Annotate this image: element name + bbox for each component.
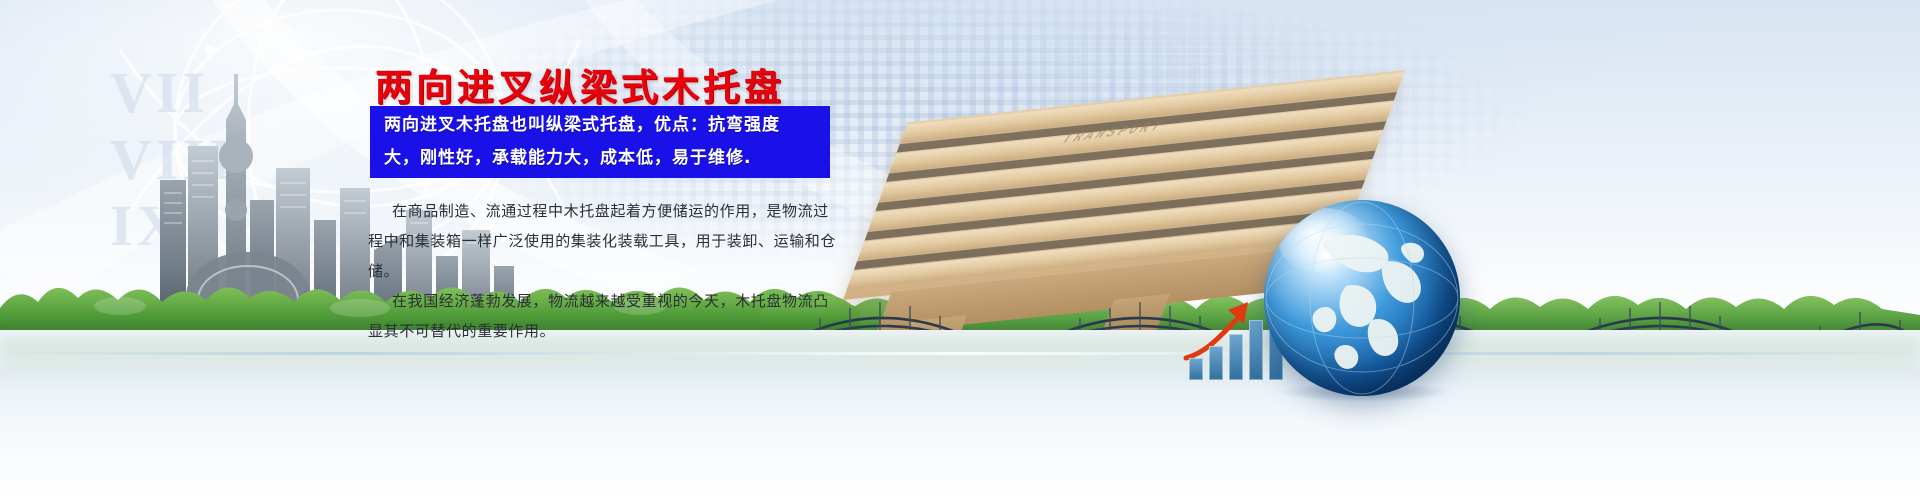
globe-landmass: [1264, 200, 1460, 396]
page-title: 两向进叉纵梁式木托盘: [375, 57, 785, 111]
product-banner: VIIVIIIIX XII: [0, 0, 1920, 500]
body-paragraph-2: 在我国经济蓬勃发展，物流越来越受重视的今天，木托盘物流凸显其不可替代的重要作用。: [368, 286, 838, 346]
body-paragraph-1: 在商品制造、流通过程中木托盘起着方便储运的作用，是物流过程中和集装箱一样广泛使用…: [368, 196, 838, 286]
water-green-reflection: [0, 338, 1920, 384]
highlight-callout-box: 两向进叉木托盘也叫纵梁式托盘，优点：抗弯强度 大，刚性好，承载能力大，成本低，易…: [370, 106, 830, 178]
highlight-line-2: 大，刚性好，承载能力大，成本低，易于维修.: [384, 142, 816, 175]
chart-bar: [1249, 320, 1263, 380]
chart-bar: [1189, 358, 1203, 380]
body-copy: 在商品制造、流通过程中木托盘起着方便储运的作用，是物流过程中和集装箱一样广泛使用…: [368, 196, 838, 346]
chart-bar: [1229, 334, 1243, 380]
horizon-line: [0, 352, 1920, 355]
chart-bar: [1209, 346, 1223, 380]
world-globe-icon: [1264, 200, 1460, 396]
highlight-line-1: 两向进叉木托盘也叫纵梁式托盘，优点：抗弯强度: [384, 109, 816, 142]
